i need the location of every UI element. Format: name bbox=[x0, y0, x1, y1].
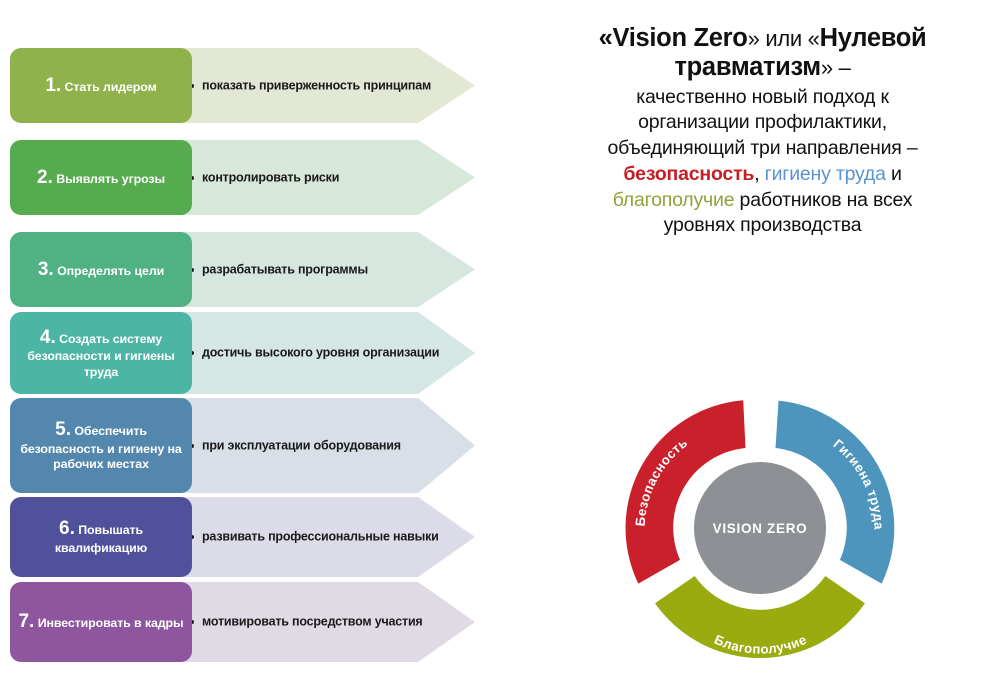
step-row[interactable]: контролировать риски2. Выявлять угрозы bbox=[0, 140, 500, 215]
headline-line-6: уровнях производства bbox=[530, 213, 995, 239]
headline-line-2: организации профилактики, bbox=[530, 110, 995, 136]
step-row[interactable]: при эксплуатации оборудования5. Обеспечи… bbox=[0, 398, 500, 493]
step-chip-label: 2. Выявлять угрозы bbox=[37, 166, 165, 190]
step-arrow: при эксплуатации оборудования bbox=[150, 398, 475, 493]
step-chip[interactable]: 6. Повышать квалификацию bbox=[10, 497, 192, 577]
term-and: и bbox=[886, 163, 902, 185]
quote-open: « bbox=[599, 24, 613, 52]
step-number: 5. bbox=[55, 419, 71, 440]
step-detail: мотивировать посредством участия bbox=[202, 613, 452, 630]
headline-line-3: объединяющий три направления – bbox=[530, 136, 995, 162]
headline-dash: » – bbox=[821, 55, 851, 80]
step-detail: достичь высокого уровня организации bbox=[202, 344, 452, 361]
headline-line-5: благополучие работников на всех bbox=[530, 188, 995, 214]
headline-description: качественно новый подход к организации п… bbox=[530, 85, 995, 239]
step-chip[interactable]: 3. Определять цели bbox=[10, 232, 192, 307]
step-number: 2. bbox=[37, 167, 53, 188]
step-chip[interactable]: 7. Инвестировать в кадры bbox=[10, 582, 192, 662]
term-comma: , bbox=[754, 163, 764, 185]
step-chip-label: 1. Стать лидером bbox=[45, 74, 156, 98]
step-number: 1. bbox=[45, 75, 61, 96]
step-arrow: показать приверженность принципам bbox=[150, 48, 475, 123]
headline-title: «Vision Zero» или «Нулевой травматизм» – bbox=[530, 24, 995, 83]
step-detail: развивать профессиональные навыки bbox=[202, 528, 452, 545]
step-arrow: разрабатывать программы bbox=[150, 232, 475, 307]
headline-block: «Vision Zero» или «Нулевой травматизм» –… bbox=[530, 24, 995, 239]
seven-steps-list: показать приверженность принципам1. Стат… bbox=[0, 0, 520, 683]
step-row[interactable]: разрабатывать программы3. Определять цел… bbox=[0, 232, 500, 307]
headline-tail: работников на всех bbox=[734, 189, 912, 211]
step-row[interactable]: достичь высокого уровня организации4. Со… bbox=[0, 312, 500, 394]
headline-line-4: безопасность, гигиену труда и bbox=[530, 162, 995, 188]
step-title: Выявлять угрозы bbox=[56, 172, 165, 186]
step-title: Инвестировать в кадры bbox=[38, 616, 184, 630]
step-chip[interactable]: 2. Выявлять угрозы bbox=[10, 140, 192, 215]
or-connector: » или « bbox=[748, 26, 820, 51]
vision-zero-donut-diagram: Безопасность Гигиена труда Благополучие … bbox=[615, 385, 905, 670]
step-row[interactable]: мотивировать посредством участия7. Инвес… bbox=[0, 582, 500, 662]
step-arrow: достичь высокого уровня организации bbox=[150, 312, 475, 394]
step-detail: показать приверженность принципам bbox=[202, 77, 452, 94]
step-number: 3. bbox=[38, 259, 54, 280]
step-title: Стать лидером bbox=[65, 80, 157, 94]
step-detail: при эксплуатации оборудования bbox=[202, 437, 452, 454]
step-arrow: мотивировать посредством участия bbox=[150, 582, 475, 662]
term-hygiene: гигиену труда bbox=[765, 163, 886, 185]
step-chip-label: 4. Создать систему безопасности и гигиен… bbox=[17, 326, 185, 381]
step-chip-label: 3. Определять цели bbox=[38, 258, 164, 282]
step-chip[interactable]: 1. Стать лидером bbox=[10, 48, 192, 123]
step-chip-label: 5. Обеспечить безопасность и гигиену на … bbox=[17, 418, 185, 473]
step-detail: контролировать риски bbox=[202, 169, 452, 186]
vision-zero-term: Vision Zero bbox=[612, 24, 747, 52]
step-chip-label: 7. Инвестировать в кадры bbox=[18, 610, 183, 634]
donut-center-label: VISION ZERO bbox=[713, 521, 808, 536]
step-title: Определять цели bbox=[57, 264, 164, 278]
slide-root: показать приверженность принципам1. Стат… bbox=[0, 0, 1000, 683]
step-detail: разрабатывать программы bbox=[202, 261, 452, 278]
step-row[interactable]: развивать профессиональные навыки6. Повы… bbox=[0, 497, 500, 577]
step-number: 4. bbox=[40, 327, 56, 348]
step-title: Обеспечить безопасность и гигиену на раб… bbox=[20, 424, 181, 471]
step-chip[interactable]: 4. Создать систему безопасности и гигиен… bbox=[10, 312, 192, 394]
term-wellbeing: благополучие bbox=[613, 189, 735, 211]
headline-line-1: качественно новый подход к bbox=[530, 85, 995, 111]
step-number: 7. bbox=[18, 611, 34, 632]
term-safety: безопасность bbox=[623, 163, 754, 185]
step-arrow: контролировать риски bbox=[150, 140, 475, 215]
step-row[interactable]: показать приверженность принципам1. Стат… bbox=[0, 48, 500, 123]
step-number: 6. bbox=[59, 518, 75, 539]
step-arrow: развивать профессиональные навыки bbox=[150, 497, 475, 577]
step-chip-label: 6. Повышать квалификацию bbox=[17, 517, 185, 556]
step-chip[interactable]: 5. Обеспечить безопасность и гигиену на … bbox=[10, 398, 192, 493]
